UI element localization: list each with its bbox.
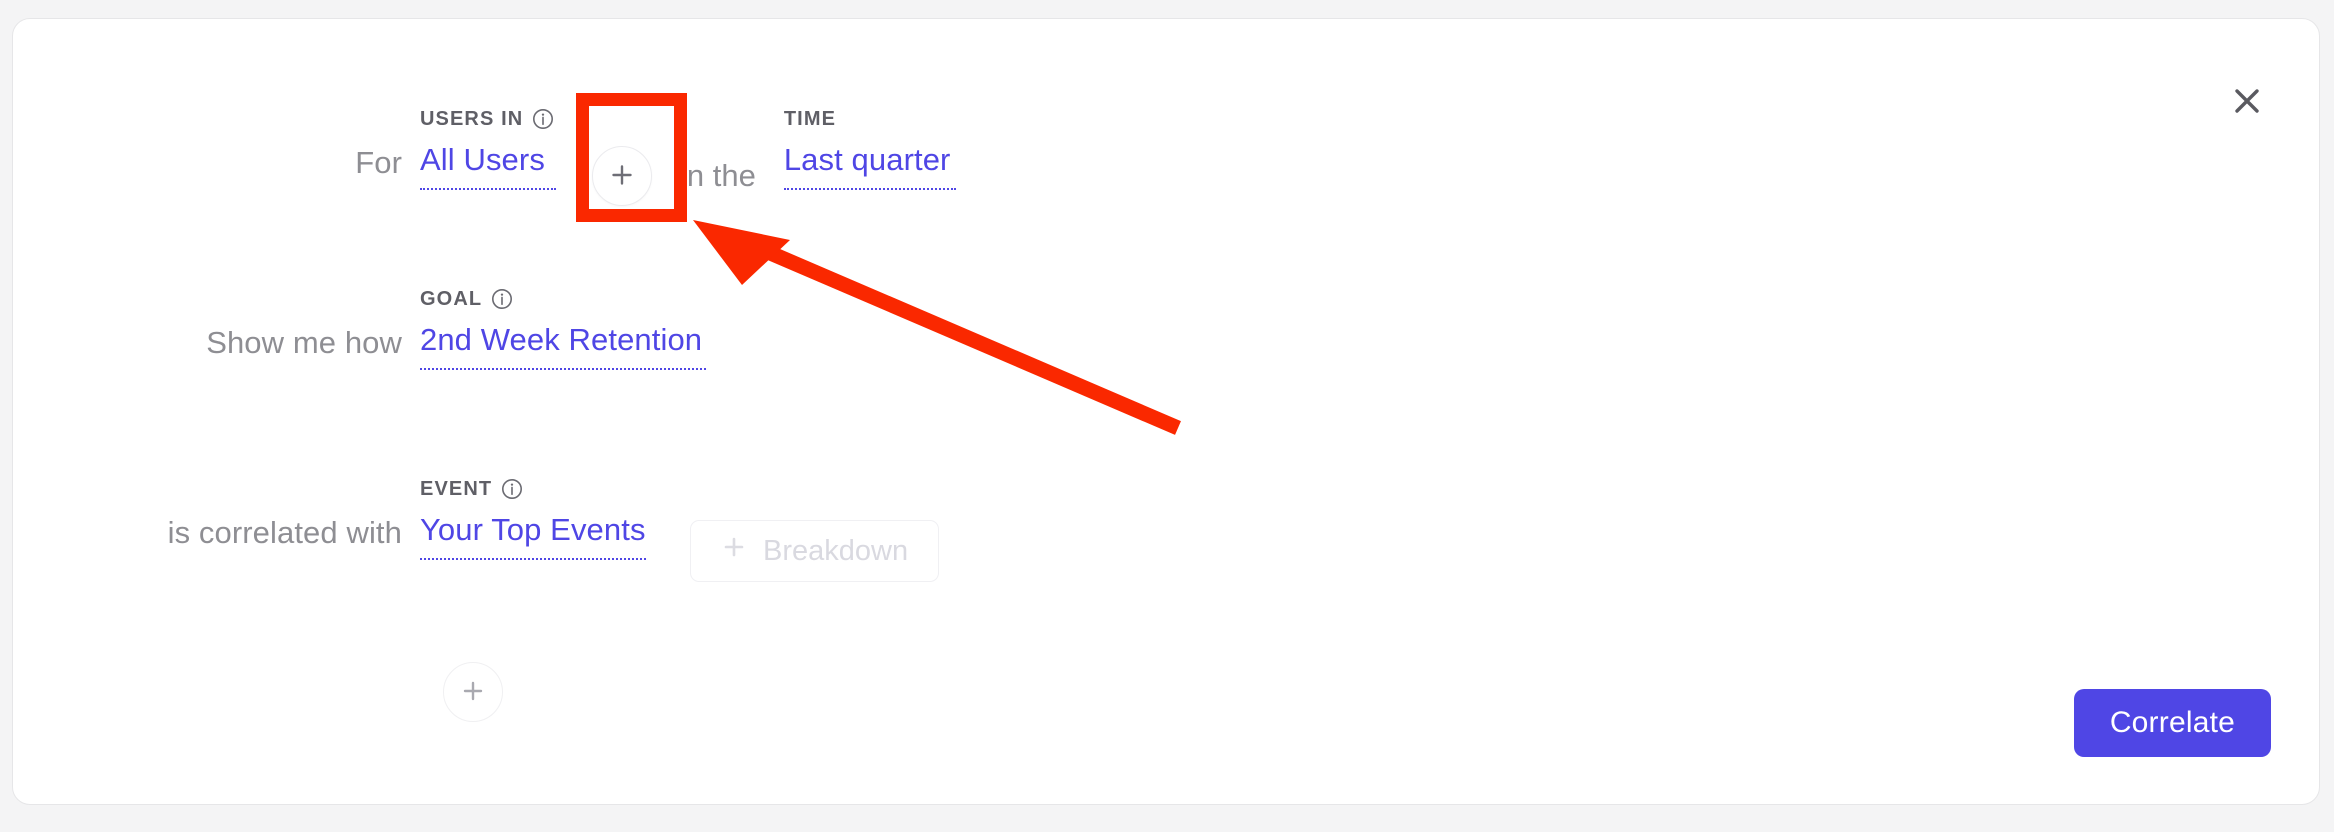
add-breakdown-label: Breakdown	[763, 535, 908, 568]
query-row-users: For USERS IN All Users	[13, 107, 956, 217]
query-row-goal: Show me how GOAL 2nd Week Retention	[13, 287, 706, 397]
field-label-text: GOAL	[420, 288, 482, 311]
field-value-event[interactable]: Your Top Events	[420, 511, 646, 560]
field-event: EVENT Your Top Events	[420, 477, 646, 560]
plus-icon	[721, 534, 747, 568]
plus-icon	[459, 677, 487, 708]
add-user-filter-plus-button[interactable]	[592, 146, 652, 206]
row-mid-text-in-the: in the	[652, 158, 784, 194]
plus-icon	[608, 161, 636, 192]
query-row-event: is correlated with EVENT Your Top Events	[13, 477, 939, 587]
row-inline-controls: in the	[556, 141, 784, 211]
info-icon[interactable]	[491, 288, 513, 310]
close-icon	[2230, 84, 2264, 118]
field-label-users-in: USERS IN	[420, 107, 556, 131]
close-button[interactable]	[2217, 71, 2277, 131]
field-value-goal[interactable]: 2nd Week Retention	[420, 321, 706, 370]
add-breakdown-button[interactable]: Breakdown	[690, 520, 939, 582]
row-prefix-is-correlated-with: is correlated with	[13, 515, 420, 551]
info-icon[interactable]	[532, 108, 554, 130]
correlate-button[interactable]: Correlate	[2074, 689, 2271, 757]
field-value-time[interactable]: Last quarter	[784, 141, 956, 190]
row-prefix-for: For	[13, 145, 420, 181]
row-prefix-show-me-how: Show me how	[13, 325, 420, 361]
info-icon[interactable]	[501, 478, 523, 500]
field-label-text: USERS IN	[420, 108, 523, 131]
field-label-text: EVENT	[420, 478, 492, 501]
field-users-in: USERS IN All Users	[420, 107, 556, 190]
field-goal: GOAL 2nd Week Retention	[420, 287, 706, 370]
add-query-row-button[interactable]	[443, 662, 503, 722]
query-builder-card: For USERS IN All Users	[12, 18, 2320, 805]
field-label-text: TIME	[784, 108, 836, 131]
field-label-time: TIME	[784, 107, 956, 131]
field-label-event: EVENT	[420, 477, 646, 501]
field-label-goal: GOAL	[420, 287, 706, 311]
field-value-users-in[interactable]: All Users	[420, 141, 556, 190]
field-time: TIME Last quarter	[784, 107, 956, 190]
